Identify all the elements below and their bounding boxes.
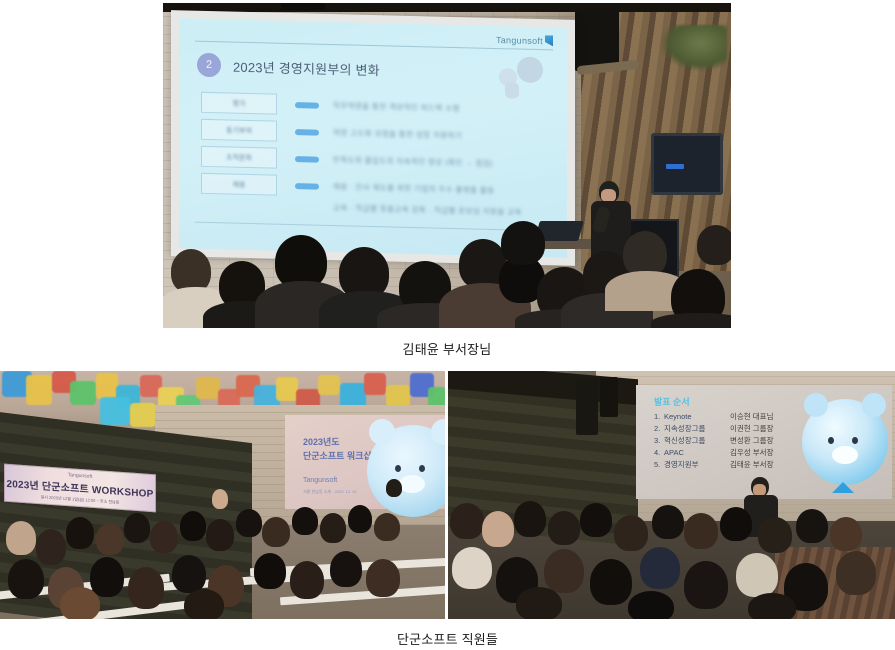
audience-head [544,549,584,593]
mascot-icon [491,54,545,101]
photo-department-head-presenting: Tangunsoft 2 2023년 경영지원부의 변화 평가 [163,3,731,328]
audience-head [450,503,484,539]
audience-head [6,521,36,555]
slide-header: 2 2023년 경영지원부의 변화 [197,53,380,81]
figure-agenda-photo: 발표 순서 1. Keynote 이승현 대표님 2. 지속성장그룹 이권현 그… [448,371,895,619]
figure-1-caption: 김태윤 부서장님 [163,340,731,360]
audience-head [90,557,124,597]
audience-head [590,559,632,605]
agenda-speaker: 변성환 그룹장 [730,435,773,447]
audience-head [830,517,862,551]
agenda-label: APAC [664,447,730,459]
projection-logo: Tangunsoft [303,477,337,484]
photo-agenda-slide-hall: 발표 순서 1. Keynote 이승현 대표님 2. 지속성장그룹 이권현 그… [448,371,895,619]
agenda-item: 3. 혁신성장그룹 변성환 그룹장 [654,435,773,447]
bullet-dash-icon [295,102,319,109]
slide-surface: Tangunsoft 2 2023년 경영지원부의 변화 평가 [179,18,567,257]
bullet-dash-icon [295,183,319,190]
slide-footer-divider [195,222,553,232]
projection-line-1: 2023년도 [303,435,340,448]
audience-head [758,517,792,553]
audience-head [482,511,514,547]
audience-head [736,553,778,597]
audience-head [150,521,178,553]
audience-head [697,225,731,265]
bear-mascot-icon [802,399,888,485]
slide-row-label: 조직문화 [201,146,277,169]
audience-head [124,513,150,543]
figure-workshop-hall-photo: Tangunsoft 2023년 단군소프트 WORKSHOP 일시 2023년… [0,371,445,619]
photo-workshop-venue: Tangunsoft 2023년 단군소프트 WORKSHOP 일시 2023년… [0,371,445,619]
projection-detail: 서울 한남동 소재 · 2023. 12. 01 [303,489,357,495]
audience-head [262,517,290,547]
slide-brand-logo: Tangunsoft [496,34,553,46]
agenda-title: 발표 순서 [654,395,690,408]
figure-presentation-photo: Tangunsoft 2 2023년 경영지원부의 변화 평가 [163,3,731,360]
page-root: Tangunsoft 2 2023년 경영지원부의 변화 평가 [0,0,895,650]
agenda-number: 1. [654,411,664,423]
agenda-number: 3. [654,435,664,447]
staff-person [386,479,402,497]
audience-head [36,529,66,565]
audience-head [172,555,206,593]
audience-head [640,547,680,589]
audience-head [96,523,124,555]
audience-head [348,505,372,533]
audience-head [236,509,262,537]
slide-title: 2023년 경영지원부의 변화 [233,56,380,79]
audience-head [720,507,752,541]
speaker-box-2 [281,3,325,10]
agenda-list: 1. Keynote 이승현 대표님 2. 지속성장그룹 이권현 그룹장 3. … [654,411,773,471]
audience-head [292,507,318,535]
agenda-label: 경영지원부 [664,459,730,471]
agenda-number: 2. [654,423,664,435]
speaker-box-2 [600,377,618,417]
chevron-up-icon [832,482,854,493]
agenda-item: 2. 지속성장그룹 이권현 그룹장 [654,423,773,435]
audience-head [374,513,400,541]
plant-decor [661,25,727,71]
agenda-number: 5. [654,459,664,471]
bullet-dash-icon [295,129,319,136]
figure-2-caption: 단군소프트 직원들 [0,630,895,650]
audience-head [796,509,828,543]
audience-head [184,589,224,619]
audience-head [748,593,796,619]
speaker-box [576,379,598,435]
audience-head [628,591,674,619]
agenda-speaker: 김우성 부서장 [730,447,773,459]
agenda-label: 지속성장그룹 [664,423,730,435]
slide-row-text: 만족도와 몰입도의 지속적인 향상 (확인 → 점검) [333,154,493,169]
agenda-speaker: 김태윤 부서장 [730,459,773,471]
audience-head [580,503,612,537]
agenda-item: 1. Keynote 이승현 대표님 [654,411,773,423]
audience-head [684,513,718,549]
standing-person [212,489,228,509]
slide-row-text: 채용 · 인사 제도를 위한 기업의 우수 플랫폼 활용 [333,181,494,196]
slide-row-label: 채용 [201,173,277,196]
audience-head [320,513,346,543]
ceiling-beam [163,3,731,12]
bullet-dash-icon [295,156,319,163]
agenda-label: Keynote [664,411,730,423]
agenda-number: 4. [654,447,664,459]
audience-head [684,561,728,609]
projection-line-2: 단군소프트 워크샵 [303,449,372,462]
agenda-label: 혁신성장그룹 [664,435,730,447]
audience-head [66,517,94,549]
slide-body-rows: 평가 직무역량을 통한 객관적인 피드백 수행 동기부여 역량 고도화 과정을 … [201,89,549,220]
audience-head [254,553,286,589]
audience-head [180,511,206,541]
audience-head [206,519,234,551]
audience-head [8,559,44,599]
audience-head [452,547,492,589]
slide-row-text: 역량 고도화 과정을 통한 성장 지원하기 [333,127,462,141]
agenda-item: 5. 경영지원부 김태윤 부서장 [654,459,773,471]
agenda-speaker: 이승현 대표님 [730,411,773,423]
slide-section-badge: 2 [197,53,221,78]
bear-mascot-icon [367,425,445,517]
audience-head [290,561,324,599]
tangunsoft-flag-icon [545,35,553,46]
agenda-item: 4. APAC 김우성 부서장 [654,447,773,459]
audience-shoulder [651,313,731,328]
audience-head [836,551,876,595]
audience-head [614,515,648,551]
slide-row-label: 동기부여 [201,119,277,142]
audience-head [60,587,100,619]
agenda-speaker: 이권현 그룹장 [730,423,773,435]
projection-screen: 2023년도 단군소프트 워크샵 Tangunsoft 서울 한남동 소재 · … [285,415,445,509]
audience-head [652,505,684,539]
audience-head [330,551,362,587]
audience-head [514,501,546,537]
audience-head [128,567,164,609]
audience-head [366,559,400,597]
wall-monitor [651,133,723,195]
slide-row-label: 평가 [201,92,277,115]
slide-brand-text: Tangunsoft [496,35,543,46]
audience-head [516,587,562,619]
slide-row-extra-text: 교육 · 직급별 맞춤교육 강화 · 직급별 온보딩 지원을 교육 [333,202,522,218]
audience-head [548,511,580,545]
slide-row-text: 직무역량을 통한 객관적인 피드백 수행 [333,100,460,114]
audience-head [501,221,545,265]
